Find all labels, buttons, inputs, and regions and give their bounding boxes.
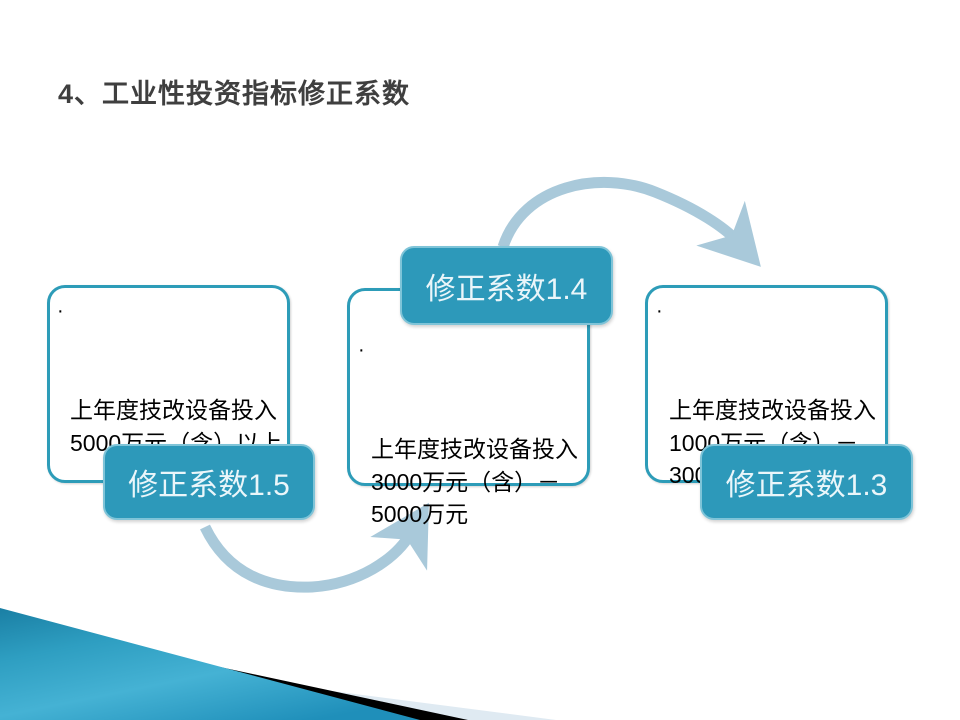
corner-teal-band [0,608,420,720]
slide-canvas: 4、工业性投资指标修正系数 · 上年度技改设备投入5000万元（含）以上 · 上… [0,0,960,720]
corner-decoration [0,0,960,720]
